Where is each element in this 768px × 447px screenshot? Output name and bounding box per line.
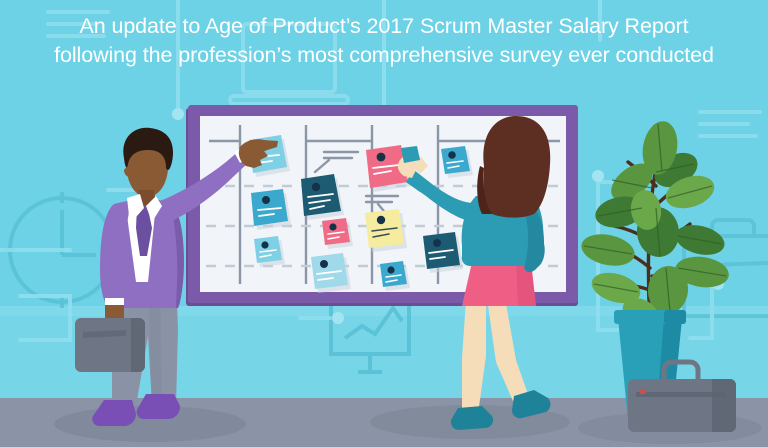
- potted-plant: [578, 118, 730, 420]
- briefcase-body-shade: [712, 379, 736, 432]
- plant-layer: [0, 0, 768, 447]
- plant-pot-rim-shade: [664, 310, 686, 324]
- briefcase-latch: [640, 390, 646, 394]
- plant-leaves: [578, 118, 730, 330]
- briefcase-seam: [636, 392, 726, 397]
- hero-illustration: An update to Age of Product’s 2017 Scrum…: [0, 0, 768, 447]
